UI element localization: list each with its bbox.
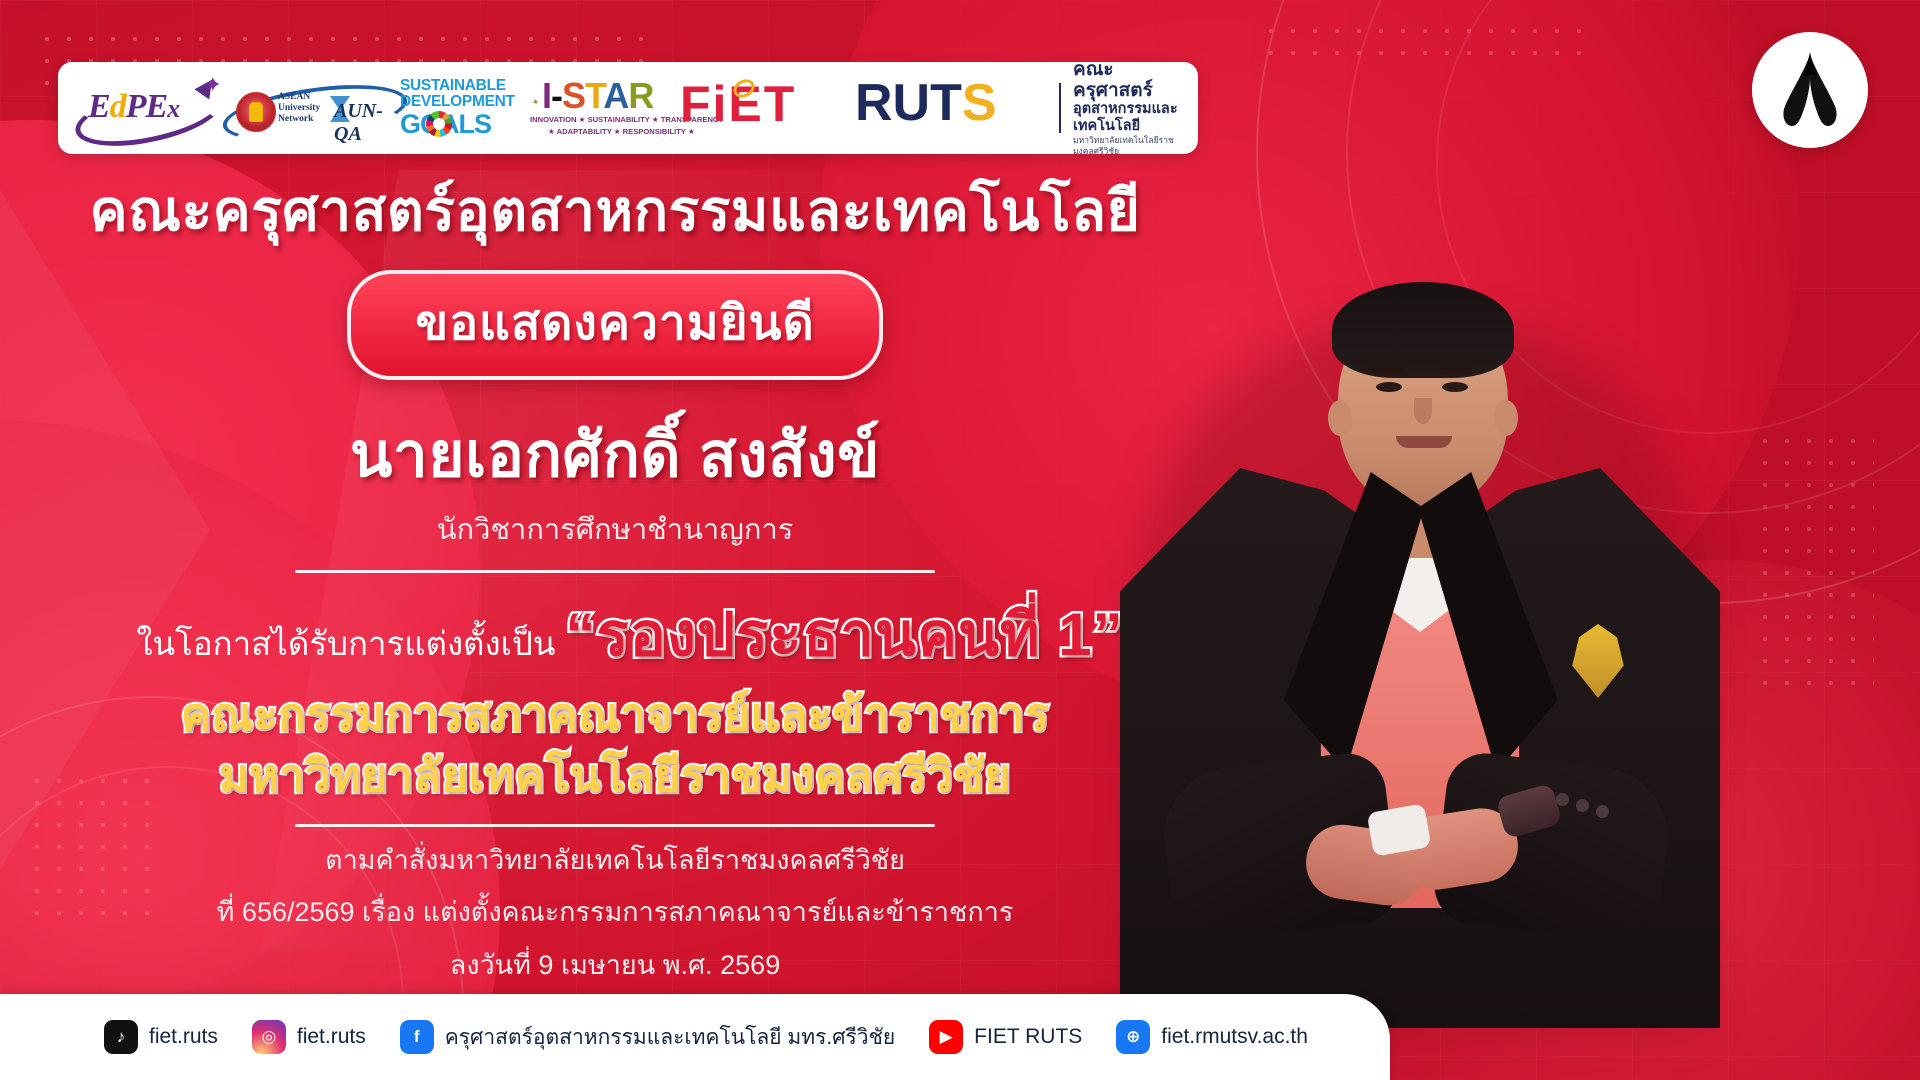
order-line-2: ที่ 656/2569 เรื่อง แต่งตั้งคณะกรรมการสภ… — [0, 893, 1230, 931]
sdg-color-wheel-icon — [426, 111, 452, 137]
i-star-logo: ✦ I-STAR INNOVATION ★ SUSTAINABILITY ★ T… — [530, 72, 680, 144]
black-ribbon-icon — [1775, 48, 1845, 132]
aun-qa-label: AUN-QA — [334, 100, 400, 146]
social-instagram[interactable]: ◎ fiet.ruts — [252, 1020, 366, 1054]
edpex-logo: ✦ EdPEx — [72, 72, 222, 144]
instagram-handle: fiet.ruts — [297, 1025, 366, 1049]
social-footer: ♪ fiet.ruts ◎ fiet.ruts f ครุศาสตร์อุตสา… — [0, 994, 1390, 1080]
honoree-name: นายเอกศักดิ์ สงสังข์ — [0, 406, 1230, 504]
fiet-logo: FiET — [680, 72, 855, 144]
order-line-1: ตามคำสั่งมหาวิทยาลัยเทคโนโลยีราชมงคลศรีว… — [0, 841, 1230, 879]
youtube-icon: ▶ — [929, 1020, 963, 1054]
committee-line-2: มหาวิทยาลัยเทคโนโลยีราชมงคลศรีวิชัย — [0, 749, 1230, 804]
congratulations-text: ขอแสดงความยินดี — [415, 297, 814, 350]
asean-seal-icon — [236, 92, 276, 132]
sdg-logo: SUSTAINABLE DEVELOPMENT GOALS — [400, 72, 530, 144]
instagram-icon: ◎ — [252, 1020, 286, 1054]
facebook-page-name: ครุศาสตร์อุตสาหกรรมและเทคโนโลยี มทร.ศรีว… — [445, 1021, 895, 1054]
divider-top — [295, 570, 935, 573]
honoree-position: นักวิชาการศึกษาชำนาญการ — [0, 506, 1230, 552]
page-title: คณะครุศาสตร์อุตสาหกรรมและเทคโนโลยี — [0, 178, 1230, 244]
aun-qa-logo: ASEANUniversityNetwork AUN-QA — [222, 72, 400, 144]
website-url: fiet.rmutsv.ac.th — [1161, 1025, 1308, 1049]
committee-line-1: คณะกรรมการสภาคณาจารย์และข้าราชการ — [0, 688, 1230, 743]
social-youtube[interactable]: ▶ FIET RUTS — [929, 1020, 1082, 1054]
i-star-tagline-2: ★ ADAPTABILITY ★ RESPONSIBILITY ★ — [548, 127, 695, 136]
social-facebook[interactable]: f ครุศาสตร์อุตสาหกรรมและเทคโนโลยี มทร.ศร… — [400, 1020, 895, 1054]
decor-dots-top-right — [1260, 20, 1590, 66]
banner-canvas: ✦ EdPEx ASEANUniversityNetwork AUN-QA SU… — [0, 0, 1920, 1080]
tiktok-handle: fiet.ruts — [149, 1025, 218, 1049]
facebook-icon: f — [400, 1020, 434, 1054]
ruts-logo: RUTS — [855, 72, 1047, 144]
appointment-prefix: ในโอกาสได้รับการแต่งตั้งเป็น — [136, 617, 555, 670]
tiktok-icon: ♪ — [104, 1020, 138, 1054]
social-tiktok[interactable]: ♪ fiet.ruts — [104, 1020, 218, 1054]
logo-divider — [1059, 83, 1061, 133]
logo-bar: ✦ EdPEx ASEANUniversityNetwork AUN-QA SU… — [58, 62, 1198, 154]
divider-bottom — [295, 824, 935, 827]
website-icon: ⊕ — [1116, 1020, 1150, 1054]
youtube-channel-name: FIET RUTS — [974, 1025, 1082, 1049]
congratulations-badge: ขอแสดงความยินดี — [347, 270, 882, 380]
faculty-name-line1: คณะครุศาสตร์ — [1073, 59, 1184, 101]
social-website[interactable]: ⊕ fiet.rmutsv.ac.th — [1116, 1020, 1308, 1054]
main-content: คณะครุศาสตร์อุตสาหกรรมและเทคโนโลยี ขอแสด… — [0, 178, 1230, 984]
honoree-photo — [1070, 128, 1770, 1028]
order-line-3: ลงวันที่ 9 เมษายน พ.ศ. 2569 — [0, 946, 1230, 984]
appointment-row: ในโอกาสได้รับการแต่งตั้งเป็น “รองประธานค… — [0, 587, 1230, 682]
appointment-title: “รองประธานคนที่ 1” — [565, 587, 1123, 682]
decor-dots-mid-right — [1754, 430, 1874, 690]
